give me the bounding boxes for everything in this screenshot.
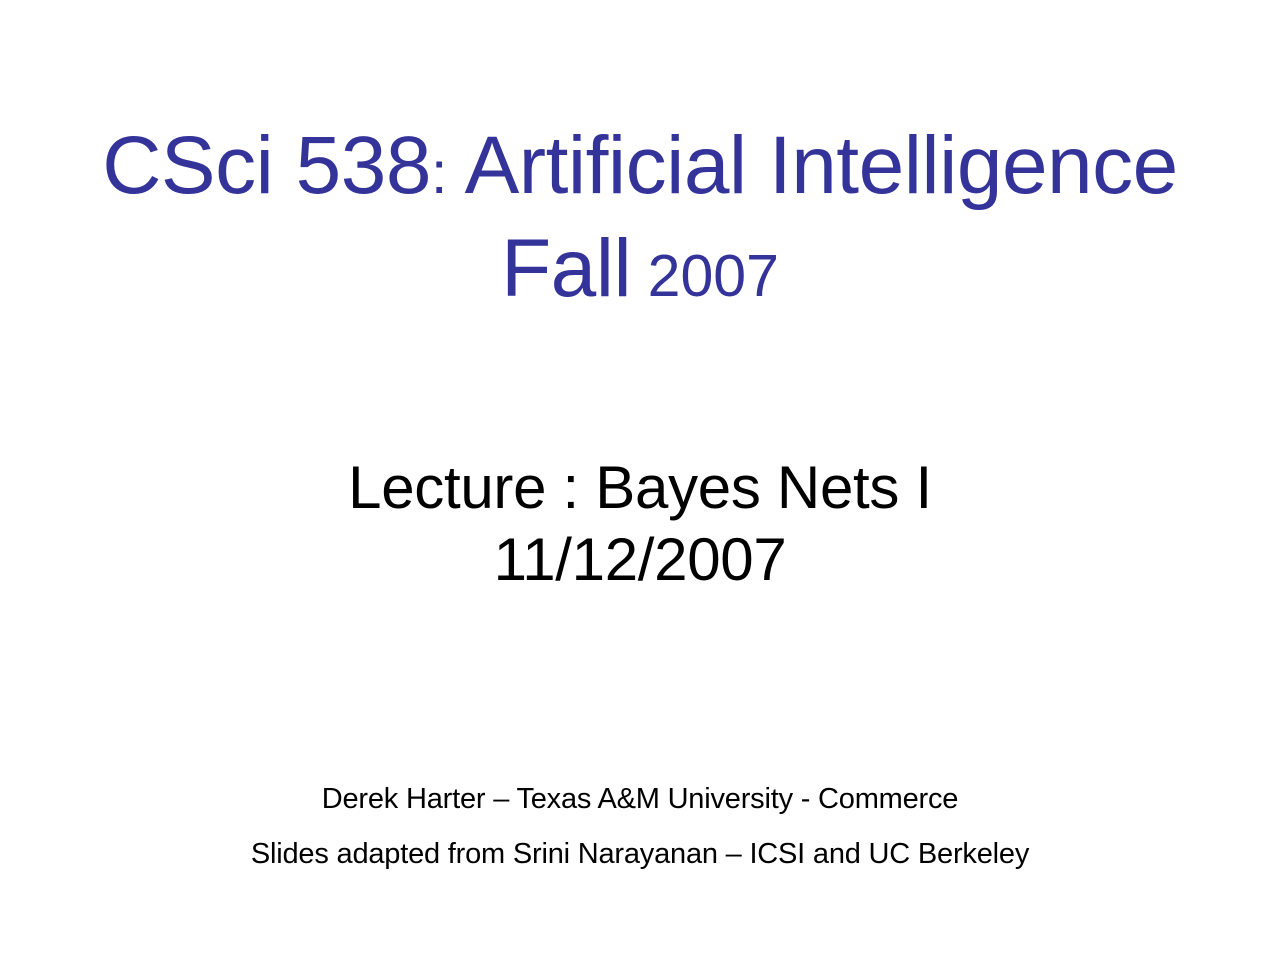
title-course-code: CSci 538 <box>102 120 431 211</box>
slide-title: CSci 538: Artificial Intelligence Fall 2… <box>64 118 1216 324</box>
attribution-author: Derek Harter – Texas A&M University - Co… <box>64 772 1216 827</box>
title-course-name: Artificial Intelligence <box>447 120 1178 211</box>
title-line-2: Fall 2007 <box>64 221 1216 324</box>
attribution-source: Slides adapted from Srini Narayanan – IC… <box>64 827 1216 882</box>
subtitle-lecture-date: 11/12/2007 <box>64 524 1216 596</box>
presentation-slide: CSci 538: Artificial Intelligence Fall 2… <box>0 0 1280 960</box>
subtitle-lecture-topic: Lecture : Bayes Nets I <box>64 452 1216 524</box>
slide-attribution: Derek Harter – Texas A&M University - Co… <box>64 772 1216 882</box>
title-colon: : <box>431 140 447 206</box>
slide-subtitle: Lecture : Bayes Nets I 11/12/2007 <box>64 452 1216 596</box>
title-line-1: CSci 538: Artificial Intelligence <box>64 118 1216 221</box>
title-year: 2007 <box>631 243 779 309</box>
title-year-value: 2007 <box>648 243 779 309</box>
title-term: Fall <box>501 223 631 314</box>
